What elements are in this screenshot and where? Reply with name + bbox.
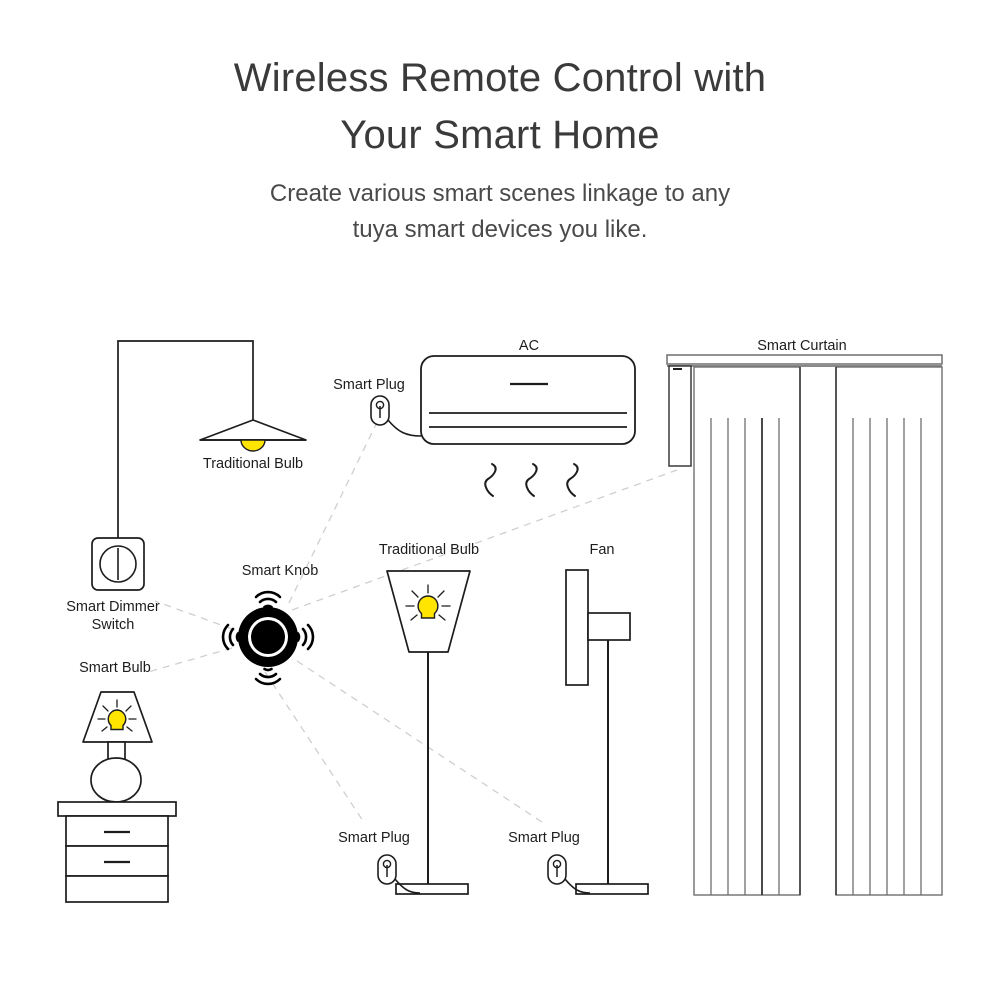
smart-curtain-label: Smart Curtain [757, 338, 846, 354]
table-lamp-base [91, 758, 141, 802]
smart-plug-ac[interactable]: Smart Plug [333, 377, 421, 436]
pendant-lamp: Traditional Bulb [118, 341, 306, 552]
smart-home-diagram: Traditional Bulb Smart Dimmer Switch Sma… [0, 0, 1000, 1000]
nightstand-drawer-3[interactable] [66, 876, 168, 902]
smart-dimmer-switch[interactable]: Smart Dimmer Switch [66, 538, 160, 633]
smart-knob[interactable]: Smart Knob [223, 563, 318, 684]
dimmer-switch-label-line-1: Smart Dimmer [66, 599, 160, 615]
smart-knob-signal-top-icon [256, 592, 280, 607]
link-knob-to-smart-plug-lamp [265, 672, 365, 824]
smart-plug-lamp-label: Smart Plug [338, 830, 410, 846]
pendant-lamp-wire [118, 341, 253, 552]
air-conditioner[interactable]: AC [421, 338, 635, 496]
pendant-lamp-shade [200, 420, 306, 440]
poster-canvas: Wireless Remote Control with Your Smart … [0, 0, 1000, 1000]
curtain-rail [667, 355, 942, 364]
curtain-panel-right-fabric [836, 367, 942, 895]
fan-motor-housing [588, 613, 630, 640]
air-conditioner-body[interactable] [421, 356, 635, 444]
smart-bulb-label: Smart Bulb [79, 660, 151, 676]
pendant-lamp-bulb-icon [241, 440, 265, 451]
nightstand-top [58, 802, 176, 816]
smart-plug-ac-label: Smart Plug [333, 377, 405, 393]
curtain-panel-left-fabric [694, 367, 800, 895]
link-knob-to-smart-plug-fan [297, 661, 545, 824]
fan-label: Fan [590, 542, 615, 558]
smart-knob-signal-right-icon [298, 625, 313, 649]
smart-knob-core-icon[interactable] [251, 620, 285, 654]
curtain-panel-right[interactable] [836, 367, 942, 895]
dimmer-switch-label-line-2: Switch [92, 617, 135, 633]
table-lamp-nightstand: Smart Bulb [58, 660, 176, 902]
smart-plug-fan-label: Smart Plug [508, 830, 580, 846]
pendant-lamp-label: Traditional Bulb [203, 456, 303, 472]
link-knob-to-dimmer-switch [155, 601, 232, 629]
floor-lamp-label: Traditional Bulb [379, 542, 479, 558]
link-knob-to-smart-bulb [148, 648, 232, 672]
curtain-panel-left[interactable] [694, 367, 800, 895]
curtain-motor-box[interactable] [669, 366, 691, 466]
smart-curtain[interactable]: Smart Curtain [667, 338, 942, 895]
smart-knob-signal-bottom-icon [256, 669, 280, 684]
air-conditioner-label: AC [519, 338, 539, 354]
link-knob-to-smart-curtain [292, 470, 677, 610]
air-conditioner-airflow-icon [485, 464, 577, 496]
smart-plug-ac-cord [388, 420, 421, 436]
floor-lamp-base [396, 884, 468, 894]
smart-knob-label: Smart Knob [242, 563, 319, 579]
fan-head[interactable] [566, 570, 588, 685]
